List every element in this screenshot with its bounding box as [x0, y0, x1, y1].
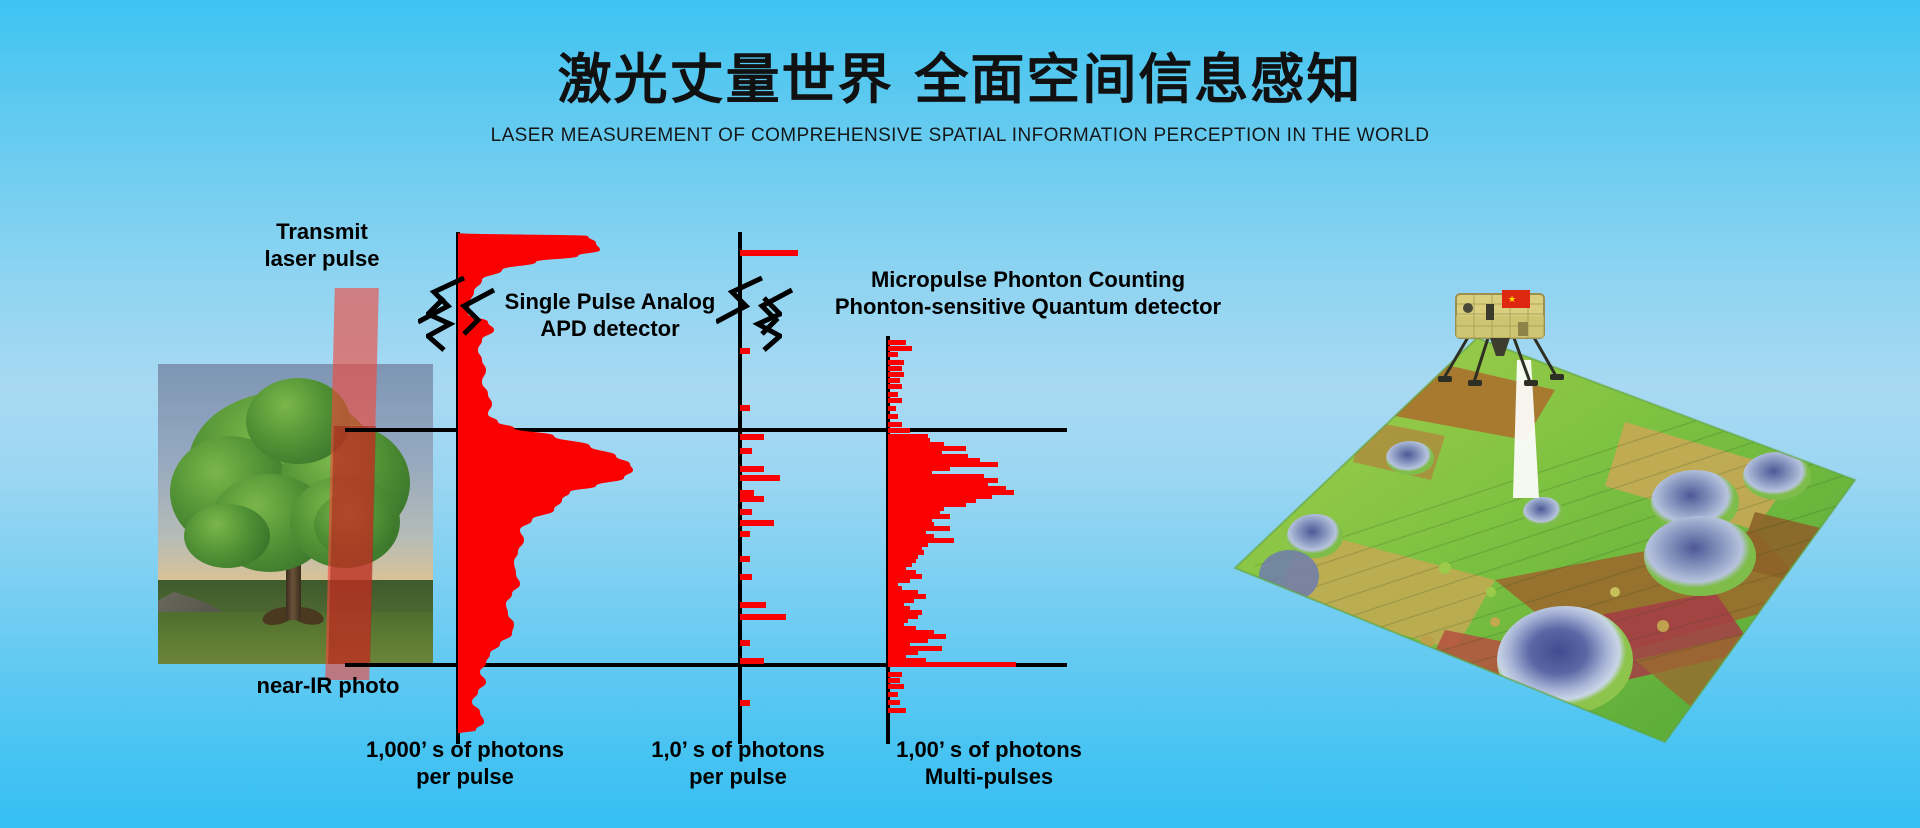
lunar-lander: ★: [1430, 282, 1570, 392]
photon-bar: [888, 346, 912, 351]
svg-text:★: ★: [1508, 294, 1516, 304]
waveform-micropulse-photon-counting: [0, 0, 1100, 760]
photon-bar: [888, 672, 902, 677]
photon-bar: [888, 340, 906, 345]
lidar-diagram: Transmit laser pulse near-IR photo Singl…: [0, 0, 1920, 828]
photon-bar: [888, 414, 898, 419]
photon-bar: [888, 428, 910, 433]
photon-bar: [888, 366, 902, 371]
photon-bar: [888, 398, 902, 403]
photon-bar: [888, 372, 904, 377]
photon-bar: [888, 662, 1016, 667]
axis-break-label-right-icon: [712, 296, 782, 352]
photon-bar: [888, 684, 904, 689]
photon-bar: [888, 378, 900, 383]
photon-bar: [888, 678, 900, 683]
photon-bar: [888, 422, 902, 427]
photon-bar: [888, 392, 898, 397]
lunar-dem-terrain: [1195, 330, 1895, 750]
photon-bar: [888, 352, 898, 357]
photon-bar: [888, 700, 900, 705]
photon-bar: [888, 708, 906, 713]
axis-break-label-left-icon: [426, 296, 496, 352]
photon-bar: [888, 406, 896, 411]
photon-bar: [888, 360, 904, 365]
photon-bar: [888, 384, 902, 389]
photon-bar: [888, 692, 898, 697]
